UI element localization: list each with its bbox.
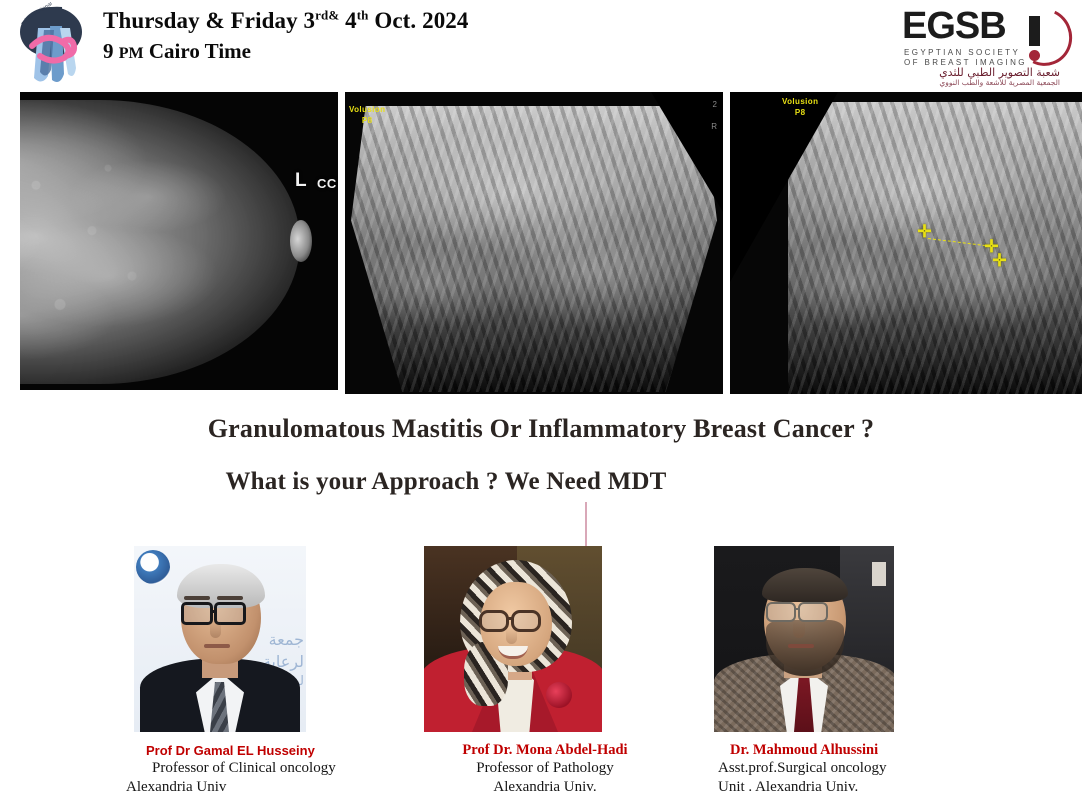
conference-time: 9 PM Cairo Time <box>103 37 703 68</box>
speaker-name-1: Prof Dr. Mona Abdel-Hadi <box>400 742 690 759</box>
slide-header: international Thursday & Friday 3rd& 4th… <box>0 0 1082 92</box>
machine-name: Volusion <box>782 96 818 107</box>
speaker-caption-2: Dr. Mahmoud Alhussini Asst.prof.Surgical… <box>690 742 990 797</box>
ultrasound-machine-label-1: Volusion P8 <box>349 104 385 126</box>
lapel-brooch-icon <box>546 682 572 708</box>
caliper-marker-left-icon: ✛ <box>916 223 933 240</box>
egsbi-wordmark: EGSB <box>902 6 1006 46</box>
machine-name: Volusion <box>349 104 385 115</box>
mammogram-side-label: L <box>295 170 307 192</box>
ultrasound-machine-label-2: Volusion P8 <box>782 96 818 118</box>
mammogram-view-label: CC <box>317 176 337 191</box>
egsbi-society-logo: EGSB EGYPTIAN SOCIETY OF BREAST IMAGING … <box>896 4 1074 88</box>
logo-exclamation-dot-icon <box>1029 50 1040 61</box>
logo-exclamation-bar-icon <box>1029 16 1040 46</box>
text-cursor-artifact <box>585 502 587 550</box>
header-text-block: Thursday & Friday 3rd& 4th Oct. 2024 9 P… <box>103 6 703 68</box>
speaker-card-2: Dr. Mahmoud Alhussini Asst.prof.Surgical… <box>690 546 990 797</box>
mammogram-nipple-marker <box>290 220 312 262</box>
slide-title-question: Granulomatous Mastitis Or Inflammatory B… <box>0 412 1082 446</box>
speaker-name-2: Dr. Mahmoud Alhussini <box>718 742 990 759</box>
speaker-role-0: Professor of Clinical oncology <box>126 759 398 778</box>
egsbi-subtitle-line1: EGYPTIAN SOCIETY <box>904 48 1020 57</box>
speaker-role-2: Asst.prof.Surgical oncology <box>718 759 990 778</box>
ultrasound-sector-1 <box>351 106 717 392</box>
speaker-panel-row: جمعة لرعاية لرعا Prof Dr Gamal EL Hussei… <box>0 546 1082 808</box>
ultrasound-orientation-mark-1: R <box>711 122 717 131</box>
conference-date: Thursday & Friday 3rd& 4th Oct. 2024 <box>103 6 703 36</box>
speaker-role-1: Professor of Pathology <box>400 759 690 778</box>
egsbi-arabic-line2: الجمعية المصرية للأشعة والطب النووي <box>939 78 1060 87</box>
breast-cancer-ribbon-logo: international <box>12 2 90 90</box>
backdrop-logo-icon <box>136 550 170 584</box>
ultrasound-panel-1: Volusion P8 2 R <box>345 92 723 394</box>
radiology-image-strip: L CC Volusion P8 2 R Volusion P8 ✛ ✛ ✛ <box>0 92 1082 402</box>
machine-model: P8 <box>349 115 385 126</box>
ultrasound-panel-2: Volusion P8 ✛ ✛ ✛ <box>730 92 1082 394</box>
speaker-affiliation-0: Alexandria Univ <box>126 778 398 797</box>
slide-subtitle-question: What is your Approach ? We Need MDT <box>0 465 1082 499</box>
speaker-name-0: Prof Dr Gamal EL Husseiny <box>126 742 398 759</box>
slide-title-block: Granulomatous Mastitis Or Inflammatory B… <box>0 412 1082 499</box>
speaker-affiliation-1: Alexandria Univ. <box>400 778 690 797</box>
speaker-card-1: Prof Dr. Mona Abdel-Hadi Professor of Pa… <box>400 546 690 797</box>
portrait-mahmoud-alhussini <box>714 546 894 732</box>
ultrasound-depth-mark-1: 2 <box>713 100 717 109</box>
caliper-marker-lower-icon: ✛ <box>991 252 1008 269</box>
portrait-gamal-el-husseiny: جمعة لرعاية لرعا <box>134 546 306 732</box>
speaker-affiliation-2: Unit . Alexandria Univ. <box>718 778 990 797</box>
speaker-card-0: جمعة لرعاية لرعا Prof Dr Gamal EL Hussei… <box>108 546 398 797</box>
speaker-caption-1: Prof Dr. Mona Abdel-Hadi Professor of Pa… <box>400 742 690 797</box>
mammogram-panel: L CC <box>20 92 338 390</box>
portrait-mona-abdel-hadi <box>424 546 602 732</box>
speaker-caption-0: Prof Dr Gamal EL Husseiny Professor of C… <box>108 742 398 797</box>
machine-model: P8 <box>782 107 818 118</box>
ultrasound-sector-2 <box>788 102 1082 394</box>
